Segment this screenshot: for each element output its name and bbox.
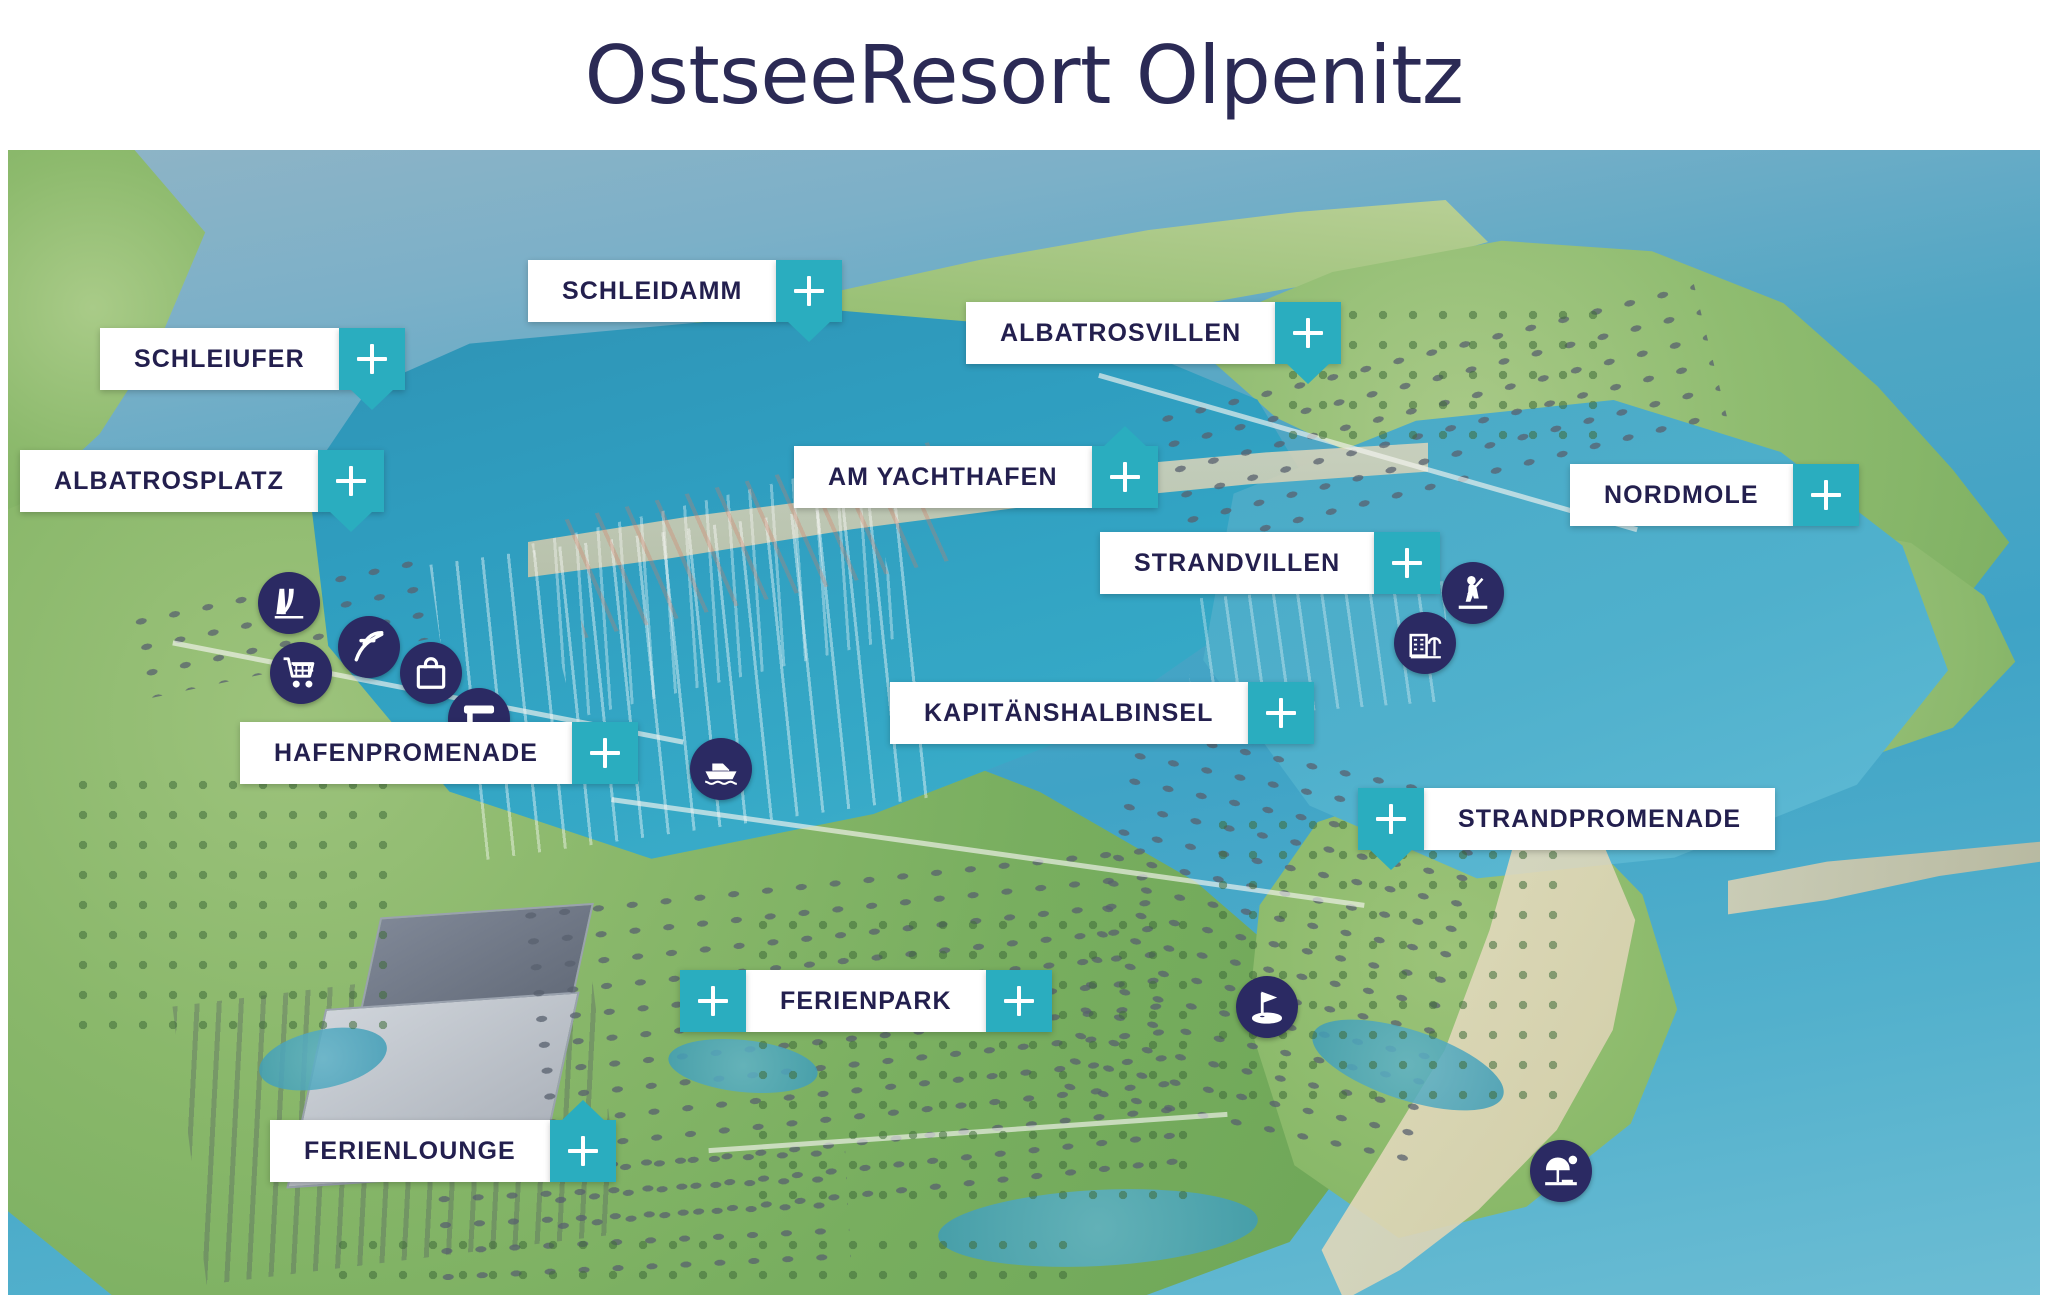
hotspot-plus-ferienpark-left[interactable] <box>680 970 746 1032</box>
interactive-resort-map[interactable]: SCHLEIUFER SCHLEIDAMM ALBATROSVILLEN ALB… <box>8 150 2040 1295</box>
hotspot-nordmole[interactable]: NORDMOLE <box>1570 464 1859 526</box>
hotspot-label-kapitaenshalbinsel: KAPITÄNSHALBINSEL <box>890 682 1248 744</box>
hotspot-plus-ferienpark-right[interactable] <box>986 970 1052 1032</box>
poi-wellness[interactable] <box>338 616 400 678</box>
hotspot-plus-strandpromenade[interactable] <box>1358 788 1424 850</box>
hotspot-label-nordmole: NORDMOLE <box>1570 464 1793 526</box>
hotspot-plus-schleidamm[interactable] <box>776 260 842 322</box>
hotspot-plus-strandvillen[interactable] <box>1374 532 1440 594</box>
hotspot-albatrosplatz[interactable]: ALBATROSPLATZ <box>20 450 384 512</box>
poi-shopping[interactable] <box>400 642 462 704</box>
hotspot-kapitaenshalbinsel[interactable]: KAPITÄNSHALBINSEL <box>890 682 1314 744</box>
poi-boat-rental[interactable] <box>690 738 752 800</box>
map-margin-right <box>2040 150 2048 1303</box>
stand-up-paddle-icon <box>1454 574 1492 612</box>
hotspot-label-albatrosvillen: ALBATROSVILLEN <box>966 302 1275 364</box>
hotspot-am-yachthafen[interactable]: AM YACHTHAFEN <box>794 446 1158 508</box>
wellness-icon <box>350 628 388 666</box>
hotspot-plus-ferienlounge[interactable] <box>550 1120 616 1182</box>
poi-waterslide[interactable] <box>258 572 320 634</box>
hotspot-hafenpromenade[interactable]: HAFENPROMENADE <box>240 722 638 784</box>
hotspot-label-am-yachthafen: AM YACHTHAFEN <box>794 446 1092 508</box>
hotspot-strandvillen[interactable]: STRANDVILLEN <box>1100 532 1440 594</box>
hotspot-label-strandpromenade: STRANDPROMENADE <box>1424 788 1775 850</box>
resort-map-page: OstseeResort Olpenitz <box>0 0 2048 1303</box>
hotspot-schleiufer[interactable]: SCHLEIUFER <box>100 328 405 390</box>
trees-west <box>68 770 408 1030</box>
resort-building-icon <box>1406 624 1444 662</box>
map-margin-left <box>0 150 8 1303</box>
hotspot-plus-am-yachthafen[interactable] <box>1092 446 1158 508</box>
hotspot-ferienpark[interactable]: FERIENPARK <box>680 970 1052 1032</box>
hotspot-plus-albatrosplatz[interactable] <box>318 450 384 512</box>
beach-umbrella-icon <box>1542 1152 1580 1190</box>
hotspot-label-albatrosplatz: ALBATROSPLATZ <box>20 450 318 512</box>
hotspot-plus-nordmole[interactable] <box>1793 464 1859 526</box>
page-header: OstseeResort Olpenitz <box>0 0 2048 150</box>
trees-south <box>328 1230 1068 1295</box>
hotspot-label-ferienpark: FERIENPARK <box>746 970 986 1032</box>
page-title: OstseeResort Olpenitz <box>585 29 1464 122</box>
poi-supermarket[interactable] <box>270 642 332 704</box>
hotspot-plus-schleiufer[interactable] <box>339 328 405 390</box>
hotspot-plus-hafenpromenade[interactable] <box>572 722 638 784</box>
hotspot-plus-kapitaenshalbinsel[interactable] <box>1248 682 1314 744</box>
map-margin-bottom <box>0 1295 2048 1303</box>
hotspot-label-ferienlounge: FERIENLOUNGE <box>270 1120 550 1182</box>
hotspot-schleidamm[interactable]: SCHLEIDAMM <box>528 260 842 322</box>
hotspot-strandpromenade[interactable]: STRANDPROMENADE <box>1358 788 1775 850</box>
poi-beach[interactable] <box>1530 1140 1592 1202</box>
shopping-bag-icon <box>412 654 450 692</box>
poi-paddleboard[interactable] <box>1442 562 1504 624</box>
water-slide-icon <box>270 584 308 622</box>
hotspot-label-schleiufer: SCHLEIUFER <box>100 328 339 390</box>
hotspot-albatrosvillen[interactable]: ALBATROSVILLEN <box>966 302 1341 364</box>
motorboat-icon <box>702 750 740 788</box>
hotspot-label-schleidamm: SCHLEIDAMM <box>528 260 776 322</box>
hotspot-ferienlounge[interactable]: FERIENLOUNGE <box>270 1120 616 1182</box>
trees-central <box>748 910 1208 1210</box>
hotspot-label-strandvillen: STRANDVILLEN <box>1100 532 1374 594</box>
golf-flag-icon <box>1248 988 1286 1026</box>
poi-hotel[interactable] <box>1394 612 1456 674</box>
hotspot-plus-albatrosvillen[interactable] <box>1275 302 1341 364</box>
poi-golf[interactable] <box>1236 976 1298 1038</box>
shopping-cart-icon <box>282 654 320 692</box>
hotspot-label-hafenpromenade: HAFENPROMENADE <box>240 722 572 784</box>
